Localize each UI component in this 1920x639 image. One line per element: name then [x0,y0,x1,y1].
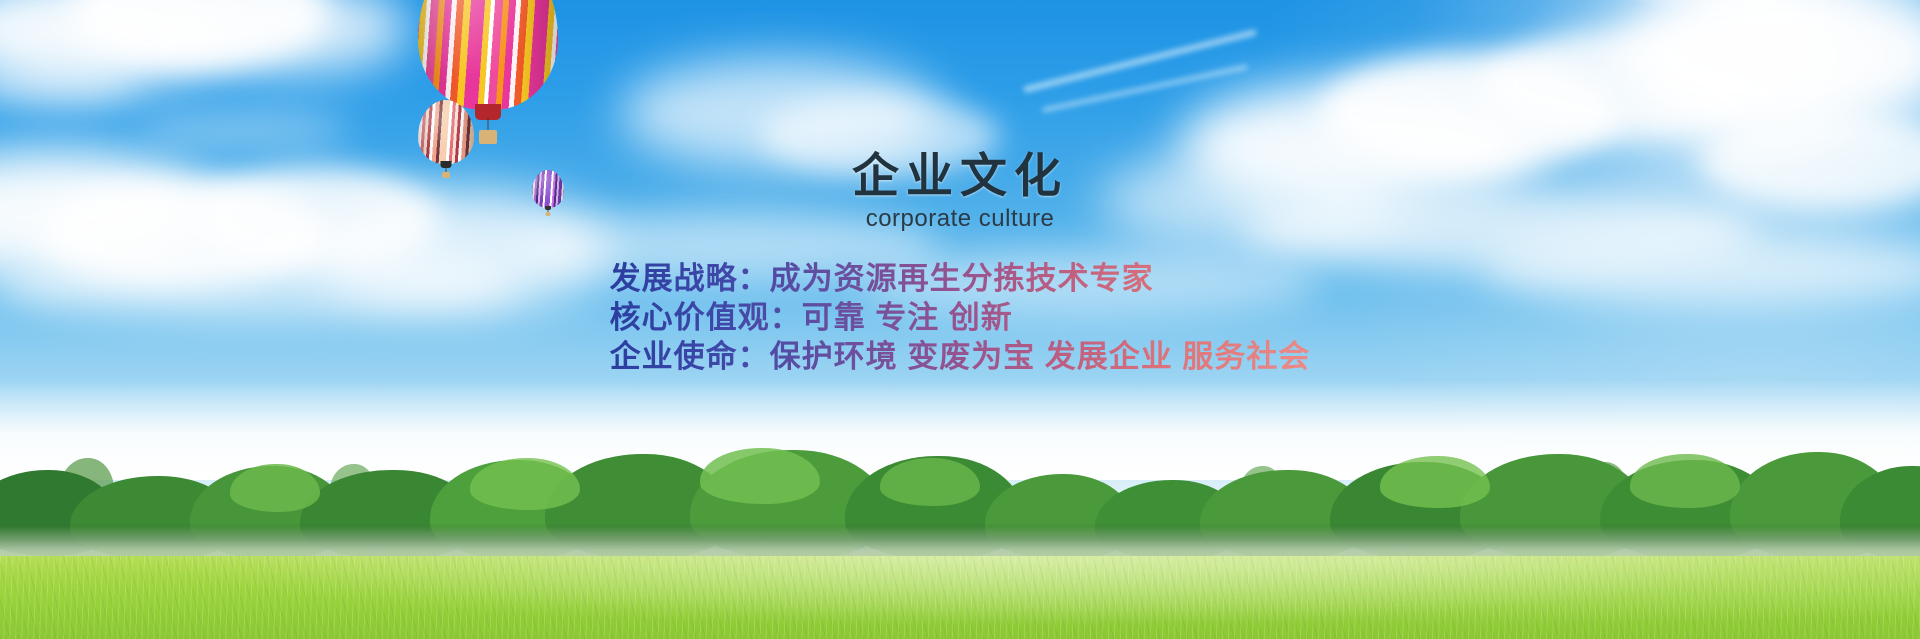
banner-copy: 企业文化 corporate culture 发展战略：成为资源再生分拣技术专家… [0,150,1920,377]
page-subtitle: corporate culture [0,205,1920,233]
grass-field [0,556,1920,639]
slogan-list: 发展战略：成为资源再生分拣技术专家 核心价值观：可靠 专注 创新 企业使命：保护… [610,259,1311,377]
slogan-line-strategy: 发展战略：成为资源再生分拣技术专家 [610,259,1311,298]
slogan-line-values: 核心价值观：可靠 专注 创新 [610,298,1311,337]
tree-line [0,440,1920,565]
slogan-line-mission: 企业使命：保护环境 变废为宝 发展企业 服务社会 [610,337,1311,376]
page-title: 企业文化 [0,150,1920,203]
grass-texture [0,556,1920,639]
corporate-culture-banner: 企业文化 corporate culture 发展战略：成为资源再生分拣技术专家… [0,0,1920,639]
grass-highlight [0,556,1920,639]
